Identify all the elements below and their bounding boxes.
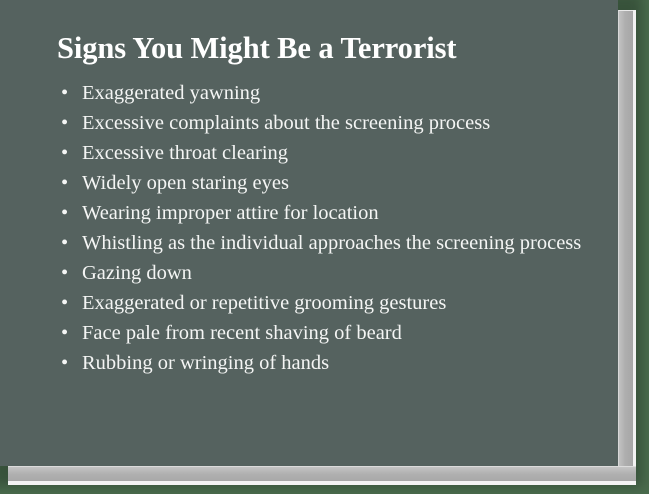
horizontal-scrollbar-edge-highlight: [8, 481, 636, 485]
list-item-label: Widely open staring eyes: [82, 168, 602, 198]
list-item-label: Rubbing or wringing of hands: [82, 348, 602, 378]
vertical-scrollbar-thumb[interactable]: [619, 11, 633, 480]
list-item: • Widely open staring eyes: [57, 168, 602, 198]
horizontal-scrollbar-thumb[interactable]: [8, 467, 636, 481]
bullet-point-icon: •: [61, 258, 68, 288]
list-item: • Excessive complaints about the screeni…: [57, 108, 602, 138]
list-item-label: Exaggerated yawning: [82, 78, 602, 108]
bullet-point-icon: •: [61, 198, 68, 228]
list-item: • Wearing improper attire for location: [57, 198, 602, 228]
horizontal-scrollbar[interactable]: [8, 466, 636, 481]
bullet-point-icon: •: [61, 318, 68, 348]
bullet-point-icon: •: [61, 288, 68, 318]
vertical-scrollbar-edge-highlight: [633, 10, 636, 480]
screenshot-stage: Signs You Might Be a Terrorist • Exagger…: [0, 0, 649, 494]
list-item-label: Wearing improper attire for location: [82, 198, 602, 228]
list-item-label: Excessive complaints about the screening…: [82, 108, 602, 138]
bullet-point-icon: •: [61, 168, 68, 198]
bullet-point-icon: •: [61, 348, 68, 378]
list-item: • Excessive throat clearing: [57, 138, 602, 168]
list-item-label: Whistling as the individual approaches t…: [82, 228, 602, 258]
bullet-point-icon: •: [61, 78, 68, 108]
slide-title: Signs You Might Be a Terrorist: [57, 32, 597, 65]
bullet-point-icon: •: [61, 108, 68, 138]
list-item: • Gazing down: [57, 258, 602, 288]
bullet-list: • Exaggerated yawning • Excessive compla…: [57, 78, 602, 378]
list-item-label: Excessive throat clearing: [82, 138, 602, 168]
list-item: • Whistling as the individual approaches…: [57, 228, 602, 258]
list-item: • Face pale from recent shaving of beard: [57, 318, 602, 348]
list-item-label: Exaggerated or repetitive grooming gestu…: [82, 288, 602, 318]
slide-panel: Signs You Might Be a Terrorist • Exagger…: [0, 0, 618, 466]
vertical-scrollbar[interactable]: [618, 10, 633, 480]
list-item-label: Face pale from recent shaving of beard: [82, 318, 602, 348]
list-item: • Exaggerated or repetitive grooming ges…: [57, 288, 602, 318]
list-item: • Rubbing or wringing of hands: [57, 348, 602, 378]
list-item-label: Gazing down: [82, 258, 602, 288]
slide-content: Signs You Might Be a Terrorist • Exagger…: [0, 0, 618, 466]
list-item: • Exaggerated yawning: [57, 78, 602, 108]
bullet-point-icon: •: [61, 138, 68, 168]
bullet-point-icon: •: [61, 228, 68, 258]
